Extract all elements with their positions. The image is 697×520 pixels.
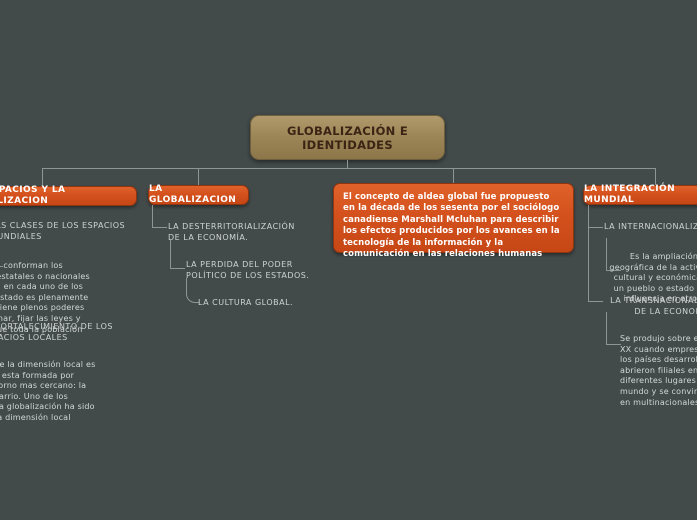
- leaf-desterritorializacion: LA DESTERRITORIALIZACIÓN DE LA ECONOMÍA.: [168, 222, 298, 243]
- branch-node-aldea-global-text: El concepto de aldea global fue propuest…: [343, 192, 564, 260]
- drop-connector-espacios: [42, 168, 43, 186]
- elbow-globalizacion-child2: [170, 240, 185, 269]
- branch-node-espacios-label: LOS ESPACIOS Y LA GLOBALIZACION: [0, 185, 136, 207]
- branch-node-aldea-global[interactable]: El concepto de aldea global fue propuest…: [333, 183, 574, 253]
- leaf-internacionalizacion-title: LA INTERNACIONALIZACIÓN: [604, 222, 697, 233]
- leaf-transnacionalizacion-detail: Se produjo sobre el siglo XX cuando empr…: [620, 334, 697, 408]
- elbow-integracion-child2-detail: [606, 312, 621, 345]
- root-node-label: GLOBALIZACIÓN E IDENTIDADES: [251, 124, 444, 152]
- leaf-cultura-global: LA CULTURA GLOBAL.: [198, 298, 328, 309]
- leaf-fortalecimiento-detail: Se llama que la dimensión local es aquel…: [0, 360, 100, 424]
- leaf-perdida-poder-politico: LA PERDIDA DEL PODER POLÍTICO DE LOS EST…: [186, 260, 336, 281]
- root-node[interactable]: GLOBALIZACIÓN E IDENTIDADES: [250, 115, 445, 160]
- branch-node-espacios[interactable]: LOS ESPACIOS Y LA GLOBALIZACION: [0, 186, 137, 206]
- elbow-integracion-child1: [588, 205, 603, 228]
- branch-node-integracion[interactable]: LA INTEGRACIÓN MUNDIAL: [583, 185, 697, 205]
- branch-node-globalizacion[interactable]: LA GLOBALIZACION: [148, 185, 249, 205]
- drop-connector-aldea-global: [453, 168, 454, 183]
- leaf-fortalecimiento-title: EL FORTALECIMIENTO DE LOS ESPACIOS LOCAL…: [0, 322, 142, 343]
- elbow-integracion-child2: [588, 227, 603, 302]
- mindmap-canvas: GLOBALIZACIÓN E IDENTIDADES LOS ESPACIOS…: [0, 0, 697, 520]
- root-stem-connector: [347, 160, 348, 168]
- branch-node-globalizacion-label: LA GLOBALIZACION: [149, 184, 248, 206]
- trunk-bus-connector: [42, 168, 655, 169]
- leaf-clases-espacios-title: LAS CLASES DE LOS ESPACIOS MUNDIALES: [0, 221, 140, 242]
- branch-node-integracion-label: LA INTEGRACIÓN MUNDIAL: [584, 184, 697, 206]
- elbow-globalizacion-child1: [152, 205, 167, 228]
